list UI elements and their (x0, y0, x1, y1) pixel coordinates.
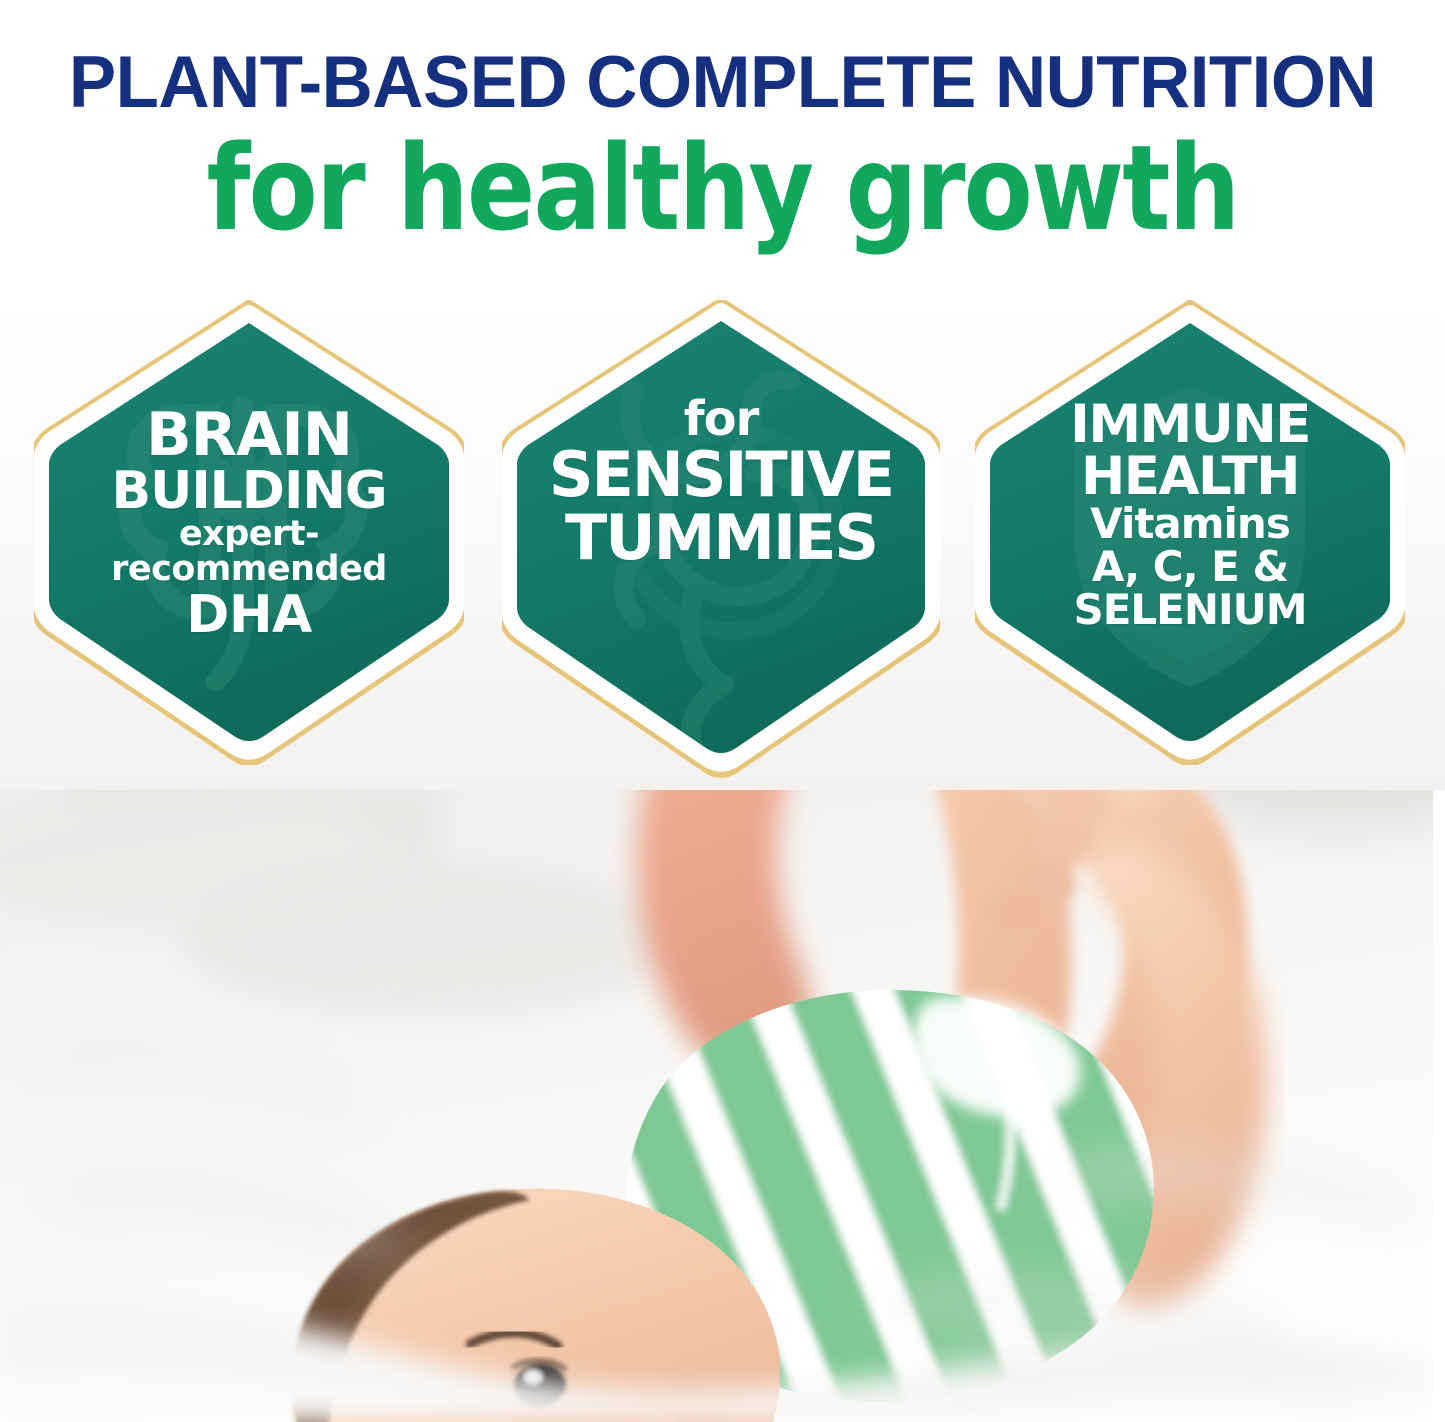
badge-1-line-2: BUILDING (34, 465, 464, 517)
badge-1-line-5: DHA (34, 588, 464, 643)
badge-3-line-1: IMMUNE (975, 399, 1405, 451)
badge-immune-health[interactable]: IMMUNE HEALTH Vitamins A, C, E & SELENIU… (975, 295, 1405, 765)
badge-3-line-5: SELENIUM (975, 589, 1405, 632)
badge-2-line-1: for (502, 395, 940, 443)
product-benefit-banner: BRAIN BUILDING expert- recommended DHA (0, 0, 1445, 1422)
badge-1-line-3: expert- (34, 517, 464, 553)
headline-secondary: for healthy growth (36, 117, 1409, 241)
badge-2-line-3: TUMMIES (502, 506, 940, 569)
badge-sensitive-tummies[interactable]: for SENSITIVE TUMMIES (502, 295, 940, 780)
badge-1-text: BRAIN BUILDING expert- recommended DHA (34, 407, 464, 643)
headline-block: PLANT-BASED COMPLETE NUTRITION for healt… (0, 0, 1445, 300)
headline-primary: PLANT-BASED COMPLETE NUTRITION (22, 0, 1424, 117)
badge-3-line-3: Vitamins (975, 503, 1405, 546)
badge-3-line-4: A, C, E & (975, 546, 1405, 589)
badge-1-line-1: BRAIN (34, 407, 464, 465)
badge-2-line-2: SENSITIVE (502, 443, 940, 506)
badge-2-text: for SENSITIVE TUMMIES (502, 395, 940, 569)
benefit-badge-strip: BRAIN BUILDING expert- recommended DHA (0, 295, 1445, 790)
badge-3-text: IMMUNE HEALTH Vitamins A, C, E & SELENIU… (975, 399, 1405, 631)
badge-3-line-2: HEALTH (975, 451, 1405, 503)
badge-brain-building[interactable]: BRAIN BUILDING expert- recommended DHA (34, 295, 464, 765)
badge-1-line-4: recommended (34, 552, 464, 588)
